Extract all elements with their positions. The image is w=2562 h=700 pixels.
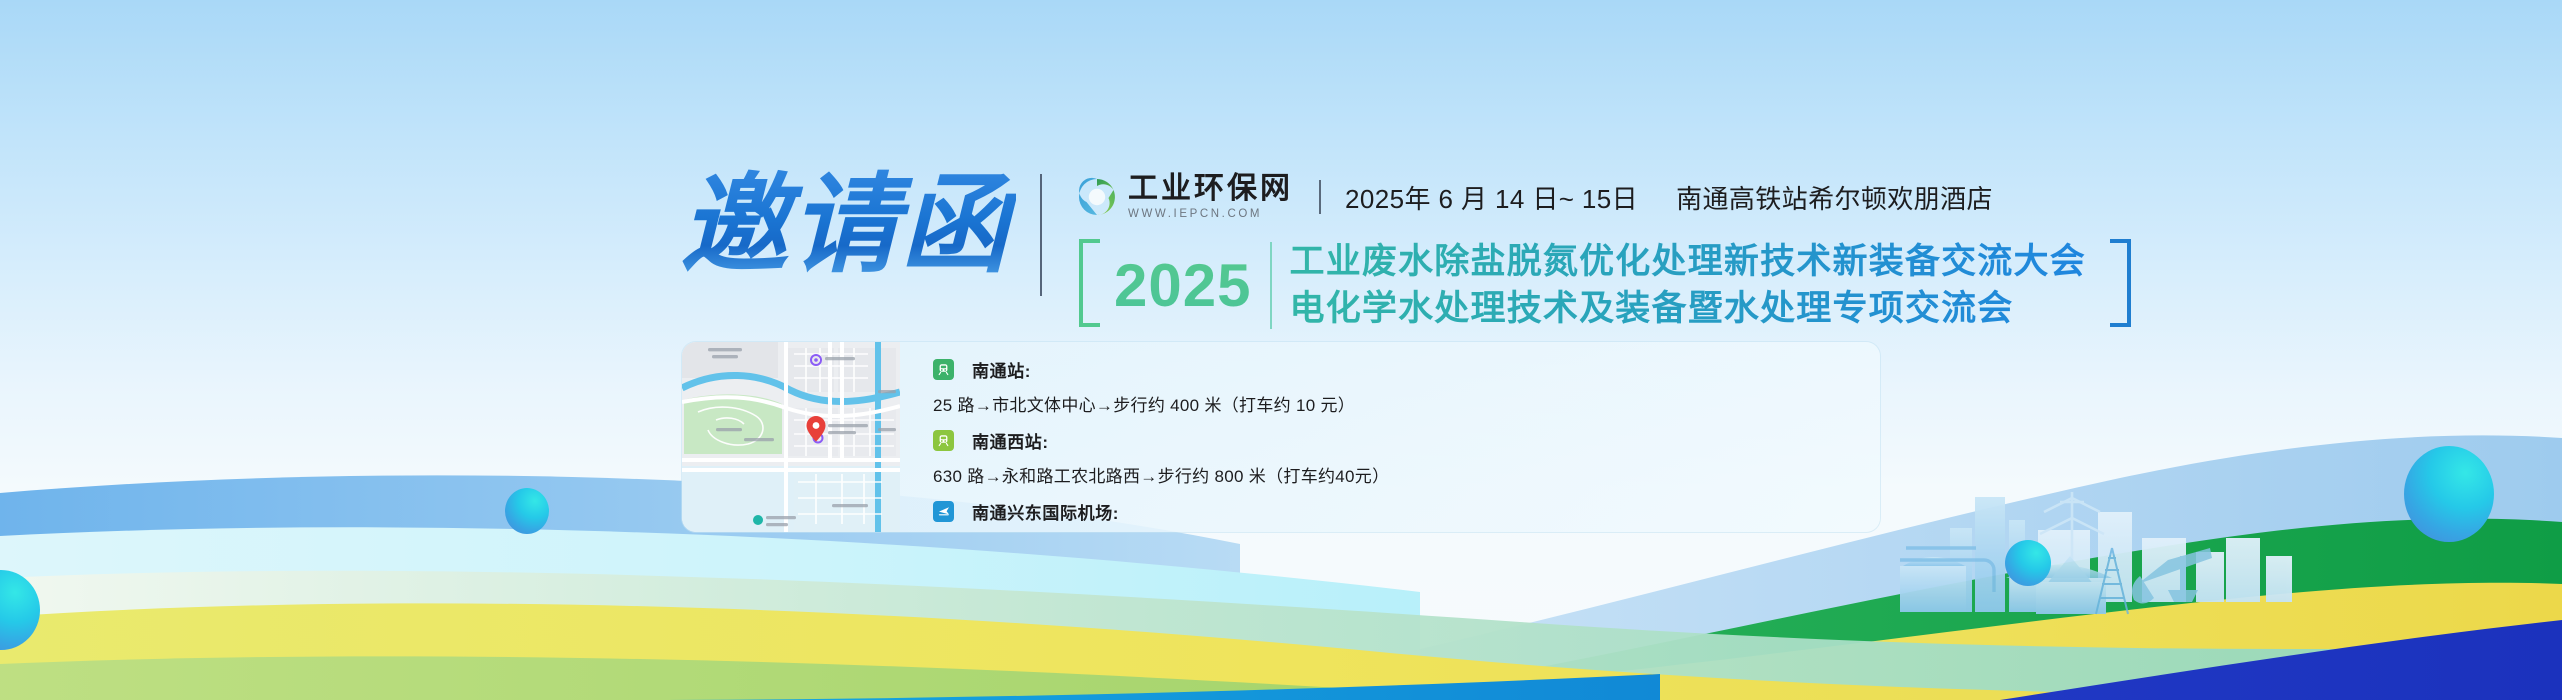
invitation-banner: 邀请函 <box>0 0 2562 700</box>
decor-sphere <box>2404 446 2494 542</box>
brand-name: 工业环保网 <box>1128 174 1293 205</box>
bracket-left-icon <box>1076 238 1102 333</box>
train-icon <box>933 430 954 451</box>
transit-route: 25 路→市北文体中心→步行约 400 米（打车约 10 元） <box>933 391 1880 416</box>
transit-head: 南通西站: <box>933 427 1880 453</box>
decor-sphere <box>2005 540 2051 586</box>
conference-line-1: 工业废水除盐脱氮优化处理新技术新装备交流大会 <box>1290 239 2086 285</box>
transit-group: 南通站: 25 路→市北文体中心→步行约 400 米（打车约 10 元） <box>933 356 1880 416</box>
transit-group: 南通兴东国际机场: 622 路→崇川大桥北→25 路→市北文体中心→步行约 40… <box>933 498 1880 532</box>
ring-logo-icon <box>1076 176 1118 218</box>
brand-meta-row: 工业环保网 WWW.IEPCN.COM 2025年 6 月 14 日~ 15日 … <box>1076 170 2134 224</box>
transit-route: 630 路→永和路工农北路西→步行约 800 米（打车约40元） <box>933 462 1880 487</box>
transit-directions: 南通站: 25 路→市北文体中心→步行约 400 米（打车约 10 元） <box>900 342 1880 532</box>
title-divider <box>1040 174 1042 296</box>
transit-group: 南通西站: 630 路→永和路工农北路西→步行约 800 米（打车约40元） <box>933 427 1880 487</box>
conference-line-2: 电化学水处理技术及装备暨水处理专项交流会 <box>1290 286 2086 332</box>
transit-station-name: 南通站: <box>972 357 1031 382</box>
banner-header: 邀请函 <box>680 168 2134 333</box>
event-venue: 南通高铁站希尔顿欢朋酒店 <box>1676 179 1993 216</box>
decor-sphere <box>0 570 40 650</box>
transit-info-card: 南通站: 25 路→市北文体中心→步行约 400 米（打车约 10 元） <box>682 342 1880 532</box>
transit-station-name: 南通兴东国际机场: <box>972 499 1119 524</box>
meta-separator <box>1319 180 1321 214</box>
conference-titles: 工业废水除盐脱氮优化处理新技术新装备交流大会 电化学水处理技术及装备暨水处理专项… <box>1290 238 2086 333</box>
train-icon <box>933 359 954 380</box>
brand-url: WWW.IEPCN.COM <box>1128 208 1293 220</box>
brand-block[interactable]: 工业环保网 WWW.IEPCN.COM <box>1076 174 1293 220</box>
event-date: 2025年 6 月 14 日~ 15日 <box>1345 179 1638 216</box>
event-year: 2025 <box>1102 244 1267 328</box>
transit-head: 南通站: <box>933 356 1880 382</box>
airplane-icon <box>933 501 954 522</box>
page-title: 邀请函 <box>680 168 1016 282</box>
decor-sphere <box>505 488 549 534</box>
bracket-right-icon <box>2108 238 2134 333</box>
transit-head: 南通兴东国际机场: <box>933 498 1880 524</box>
transit-station-name: 南通西站: <box>972 428 1049 453</box>
conference-row: 2025 工业废水除盐脱氮优化处理新技术新装备交流大会 电化学水处理技术及装备暨… <box>1076 238 2134 333</box>
header-right-column: 工业环保网 WWW.IEPCN.COM 2025年 6 月 14 日~ 15日 … <box>1076 168 2134 333</box>
venue-map-thumbnail[interactable] <box>682 342 900 532</box>
year-separator <box>1270 242 1272 329</box>
brand-text: 工业环保网 WWW.IEPCN.COM <box>1128 174 1293 220</box>
